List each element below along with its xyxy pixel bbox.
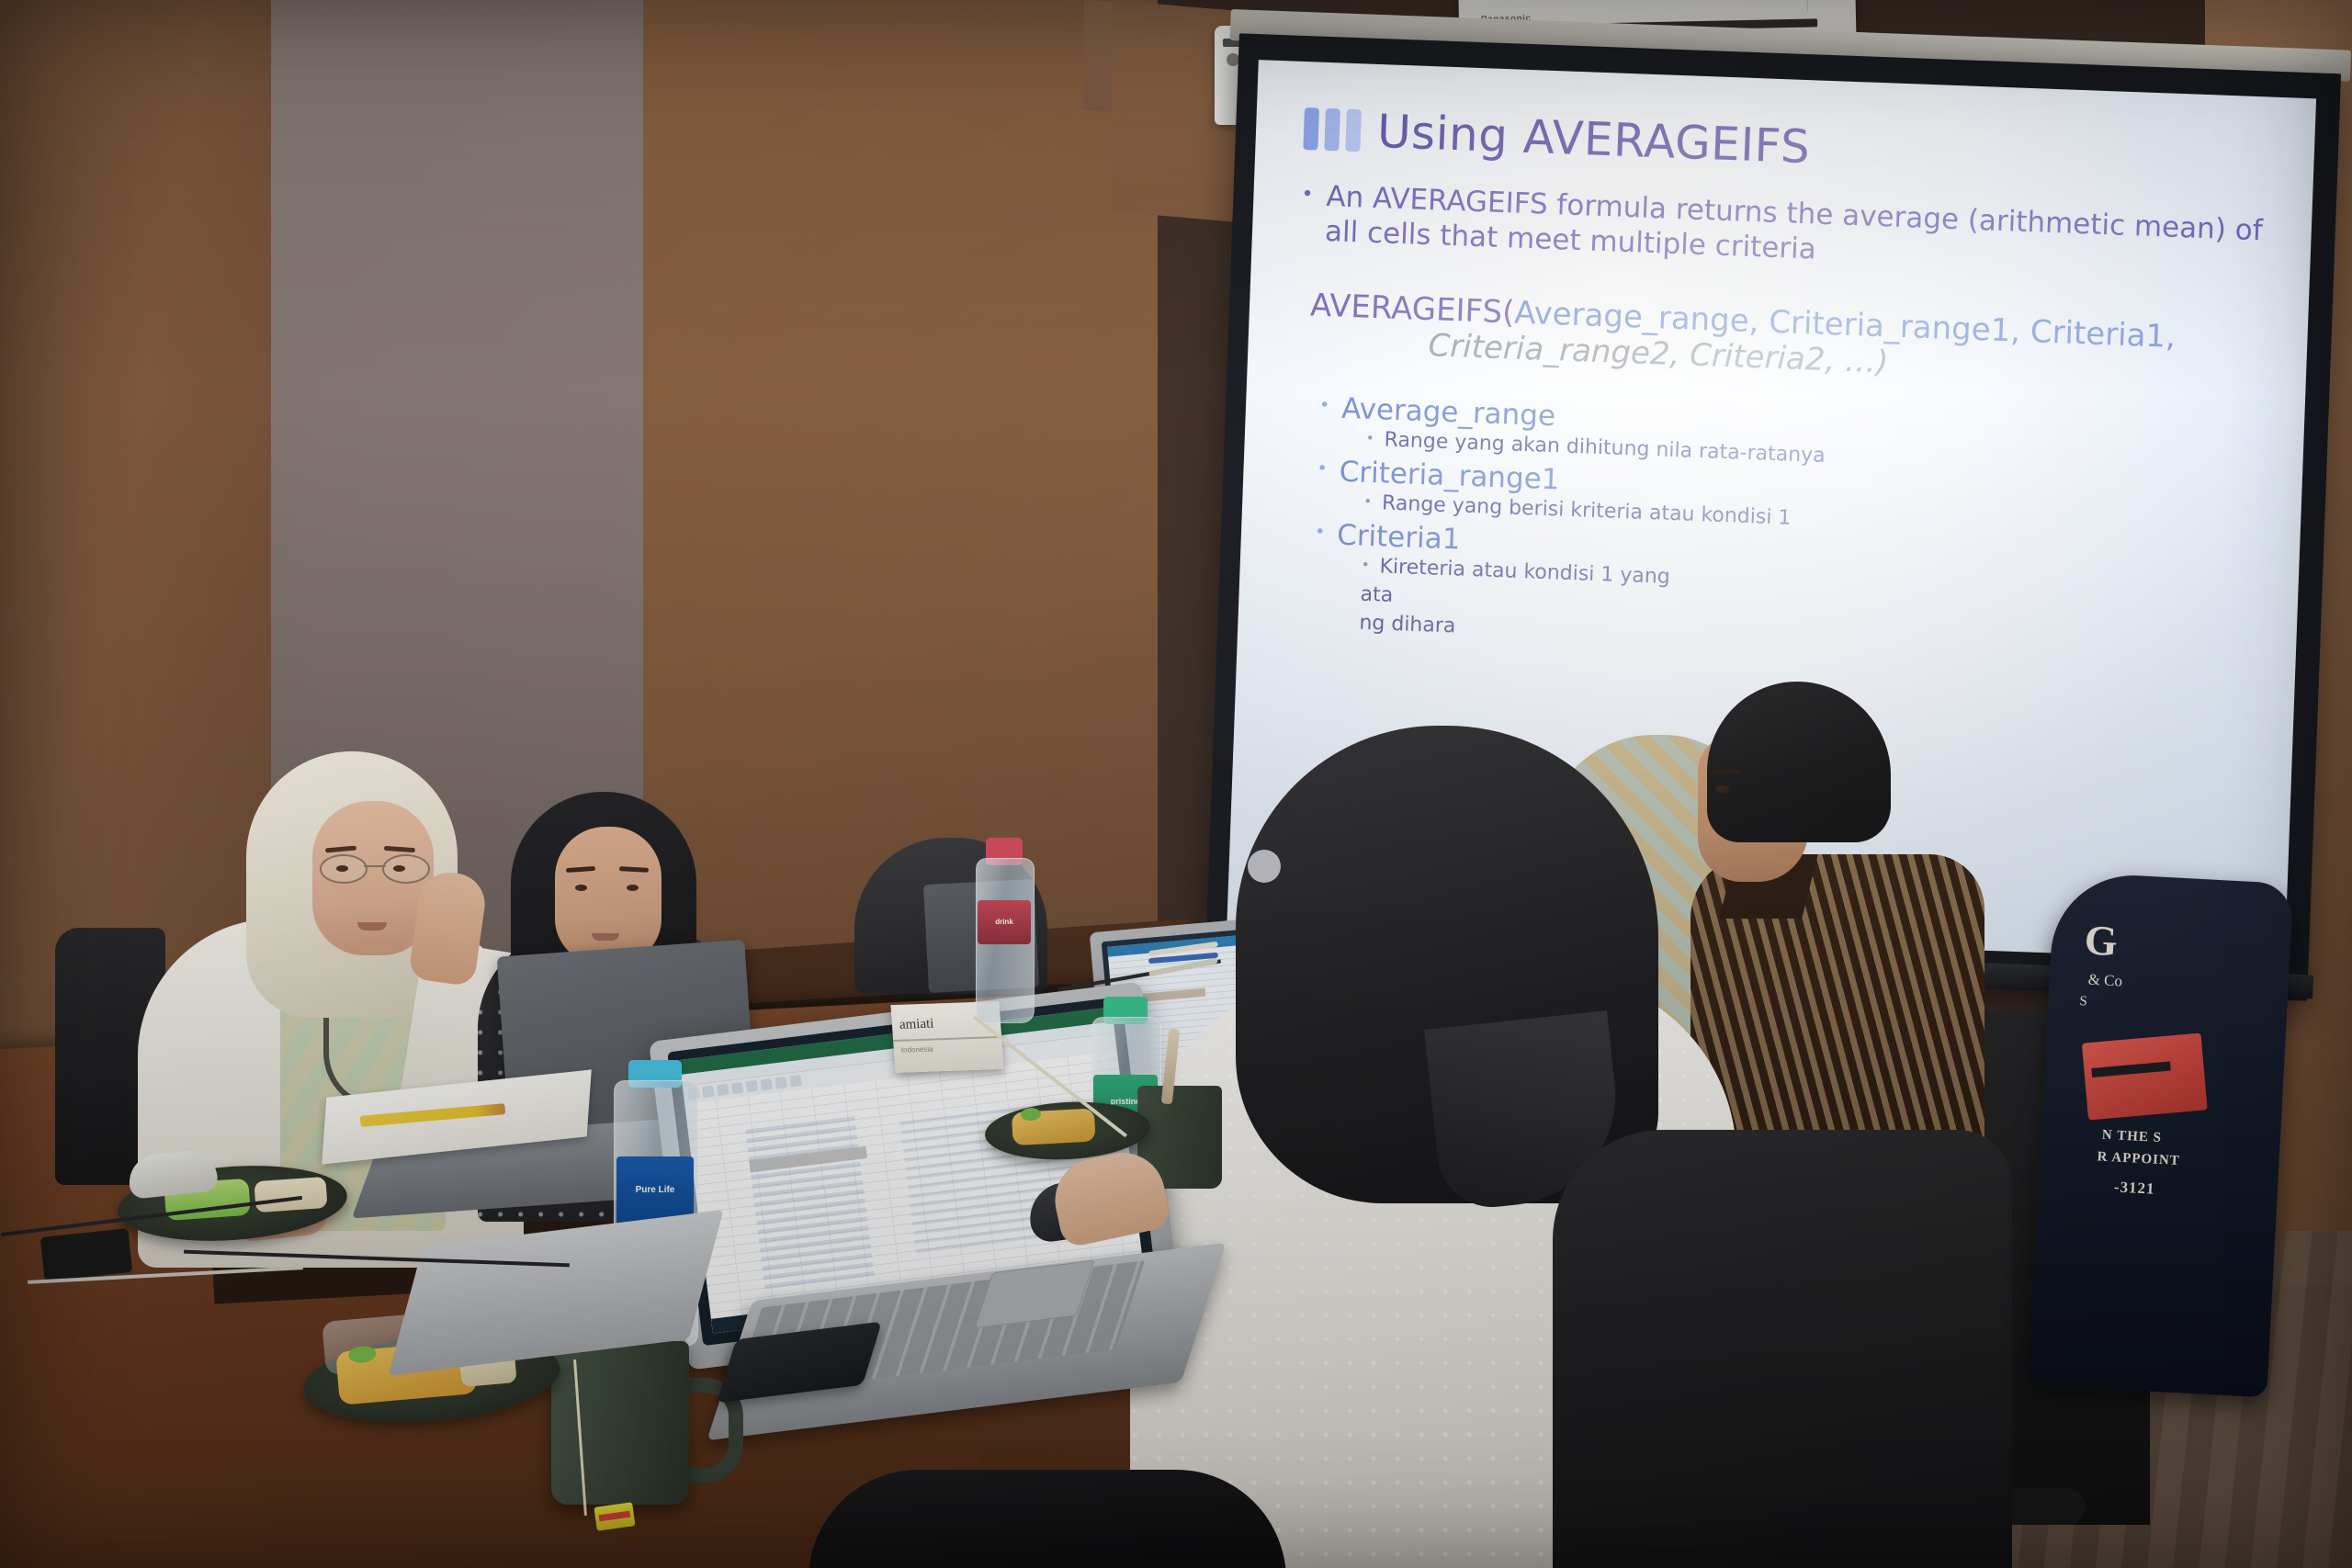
name-card-name: amiati — [899, 1017, 934, 1033]
mouth — [357, 922, 387, 931]
wall-middle — [643, 0, 1158, 992]
office-chair-foreground — [1553, 1130, 2012, 1568]
slide-bullet-primary: • An AVERAGEIFS formula returns the aver… — [1299, 179, 2267, 284]
woman-black-face — [555, 827, 661, 964]
eye — [336, 865, 348, 872]
earpiece-icon — [1248, 850, 1281, 883]
eye — [575, 885, 587, 891]
jacket-co-text: & Co — [2087, 971, 2122, 991]
eye — [627, 885, 639, 891]
power-adapter — [40, 1228, 132, 1281]
bullet-dot-icon: • — [1314, 518, 1326, 551]
bullet-dot-icon: • — [1317, 455, 1329, 488]
slide-formula: AVERAGEIFS(Average_range, Criteria_range… — [1308, 288, 2264, 394]
parameter-name: Criteria_range1 — [1339, 455, 1560, 496]
sub-bullet-dot-icon: • — [1363, 491, 1373, 513]
bullet-dot-icon: • — [1299, 179, 1314, 249]
bottle-label: drink — [978, 900, 1031, 944]
formula-function-name: AVERAGEIFS( — [1309, 287, 1515, 331]
slide-parameter-list: • Average_range • Range yang akan dihitu… — [1311, 391, 2260, 667]
jacket-monogram: G — [2084, 915, 2118, 965]
pens-group — [1148, 946, 1227, 977]
snack-item — [254, 1177, 327, 1213]
name-card-divider — [893, 1036, 1001, 1042]
occluded-fragment-text: ng dihara — [1359, 611, 1456, 637]
slide-title: Using AVERAGEIFS — [1376, 105, 1811, 174]
parameter-name: Average_range — [1341, 392, 1556, 434]
name-card-subtitle: Indonesia — [901, 1045, 933, 1055]
jacket-s-mark: S — [2079, 994, 2087, 1010]
ac-side-panel — [1806, 0, 1851, 12]
jacket-line-1: N THE S — [2101, 1128, 2162, 1146]
jacket-number: -3121 — [2113, 1178, 2155, 1198]
jacket-on-chair: G & Co S N THE S R APPOINT -3121 — [2029, 872, 2294, 1398]
office-chair-bottom — [808, 1470, 1286, 1568]
jacket-graphic-icon — [2082, 1032, 2208, 1120]
wall-left — [0, 0, 276, 1084]
slide-accent-bars-icon — [1303, 107, 1362, 152]
mouth — [592, 933, 619, 941]
water-bottle-far: drink — [976, 838, 1033, 1021]
eye — [393, 865, 405, 872]
jacket-line-2: R APPOINT — [2097, 1149, 2180, 1169]
bullet-dot-icon: • — [1318, 391, 1330, 424]
parameter-name: Criteria1 — [1337, 518, 1462, 556]
sub-bullet-dot-icon: • — [1361, 554, 1370, 577]
photo-scene: Panasonic Using AVERAGEIFS • An AVERAGEI… — [0, 0, 2352, 1568]
sub-bullet-dot-icon: • — [1365, 428, 1374, 451]
slide-bullet-primary-text: An AVERAGEIFS formula returns the averag… — [1324, 180, 2267, 284]
occluded-fragment-text: ata — [1360, 582, 1393, 606]
slide-title-row: Using AVERAGEIFS — [1303, 102, 2270, 191]
mug-foreground — [551, 1341, 689, 1505]
eye — [1715, 785, 1729, 793]
excel-data-block-left — [745, 1116, 875, 1293]
